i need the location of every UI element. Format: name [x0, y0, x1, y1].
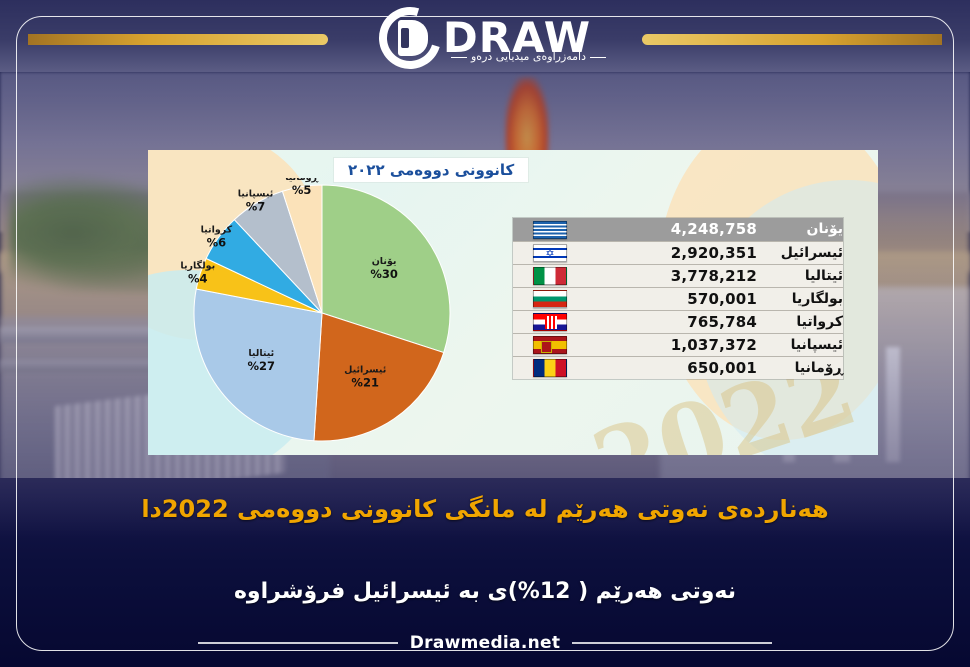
pie-slice-name-4: کرواتیا [201, 224, 233, 235]
pie-slices [194, 185, 450, 441]
table-cell-country: ئیسرائیل [757, 241, 843, 264]
pie-slice-pct-0: %30 [370, 267, 398, 281]
subheadline: نەوتی هەرێم ( 12%)ی بە ئیسرائیل فرۆشراوە [0, 578, 970, 606]
table-cell-country: ئیتالیا [757, 264, 843, 287]
romania-flag-icon [533, 359, 567, 377]
table-cell-value: 2,920,351 [587, 241, 757, 264]
table-row: 570,001بولگاریا [513, 287, 843, 310]
table-cell-flag [513, 287, 587, 310]
headline: هەناردەی نەوتی هەرێم له مانگی کانوونی دو… [0, 494, 970, 524]
table-cell-flag [513, 356, 587, 379]
table-cell-flag [513, 333, 587, 356]
table-cell-country: یۆنان [757, 218, 843, 241]
chart-title: کانوونی دووەمی ٢٠٢٢ [334, 158, 528, 182]
table-cell-value: 4,248,758 [587, 218, 757, 241]
site-footer[interactable]: Drawmedia.net [0, 633, 970, 653]
country-barrels-table: 4,248,758یۆنان2,920,351ئیسرائیل3,778,212… [513, 218, 843, 379]
footer-website[interactable]: Drawmedia.net [398, 633, 573, 653]
table-row: 4,248,758یۆنان [513, 218, 843, 241]
pie-slice-name-2: ئیتالیا [248, 348, 274, 359]
italy-flag-icon [533, 267, 567, 285]
table-cell-country: ئیسپانیا [757, 333, 843, 356]
table-cell-flag [513, 264, 587, 287]
footer-rule-left [198, 642, 398, 644]
footer-rule-right [572, 642, 772, 644]
pie-slice-name-1: ئیسرائیل [344, 365, 386, 376]
bulgaria-flag-icon [533, 290, 567, 308]
brand-tagline: دامەزراوەی میدیایی درەو [471, 50, 586, 63]
table-cell-value: 650,001 [587, 356, 757, 379]
table-cell-flag [513, 310, 587, 333]
pie-slice-pct-5: %7 [246, 200, 266, 214]
pie-slice-pct-3: %4 [188, 272, 208, 286]
spain-flag-icon [533, 336, 567, 354]
pie-slice-pct-2: %27 [248, 359, 276, 373]
table-row: 1,037,372ئیسپانیا [513, 333, 843, 356]
pie-slice-name-3: بولگاریا [180, 260, 215, 272]
pie-slice-pct-6: %5 [292, 183, 312, 197]
croatia-flag-icon [533, 313, 567, 331]
israel-flag-icon [533, 244, 567, 262]
pie-chart: یۆنان%30ئیسرائیل%21ئیتالیا%27بولگاریا%4ک… [172, 178, 482, 448]
brand-logo[interactable]: DRAW دامەزراوەی میدیایی درەو [0, 6, 970, 70]
chart-card: 2022 کانوونی دووەمی ٢٠٢٢ یۆنان%30ئیسرائی… [148, 150, 878, 455]
table-cell-country: بولگاریا [757, 287, 843, 310]
table-cell-country: ڕۆمانیا [757, 356, 843, 379]
table-cell-value: 765,784 [587, 310, 757, 333]
infographic-canvas: DRAW دامەزراوەی میدیایی درەو 2022 کانوون… [0, 0, 970, 667]
table-body: 4,248,758یۆنان2,920,351ئیسرائیل3,778,212… [513, 218, 843, 379]
table-cell-value: 1,037,372 [587, 333, 757, 356]
pie-slice-name-5: ئیسپانیا [238, 189, 274, 200]
table-row: 2,920,351ئیسرائیل [513, 241, 843, 264]
greece-flag-icon [533, 221, 567, 239]
table-cell-value: 570,001 [587, 287, 757, 310]
table-cell-flag [513, 241, 587, 264]
table-cell-country: کرواتیا [757, 310, 843, 333]
table-row: 765,784کرواتیا [513, 310, 843, 333]
table-cell-value: 3,778,212 [587, 264, 757, 287]
pie-slice-pct-4: %6 [207, 235, 227, 249]
pie-chart-svg: یۆنان%30ئیسرائیل%21ئیتالیا%27بولگاریا%4ک… [172, 178, 482, 448]
table-row: 3,778,212ئیتالیا [513, 264, 843, 287]
draw-d-logo-icon [379, 7, 445, 69]
table-cell-flag [513, 218, 587, 241]
table-row: 650,001ڕۆمانیا [513, 356, 843, 379]
pie-slice-name-0: یۆنان [372, 256, 397, 267]
pie-slice-pct-1: %21 [351, 376, 379, 390]
